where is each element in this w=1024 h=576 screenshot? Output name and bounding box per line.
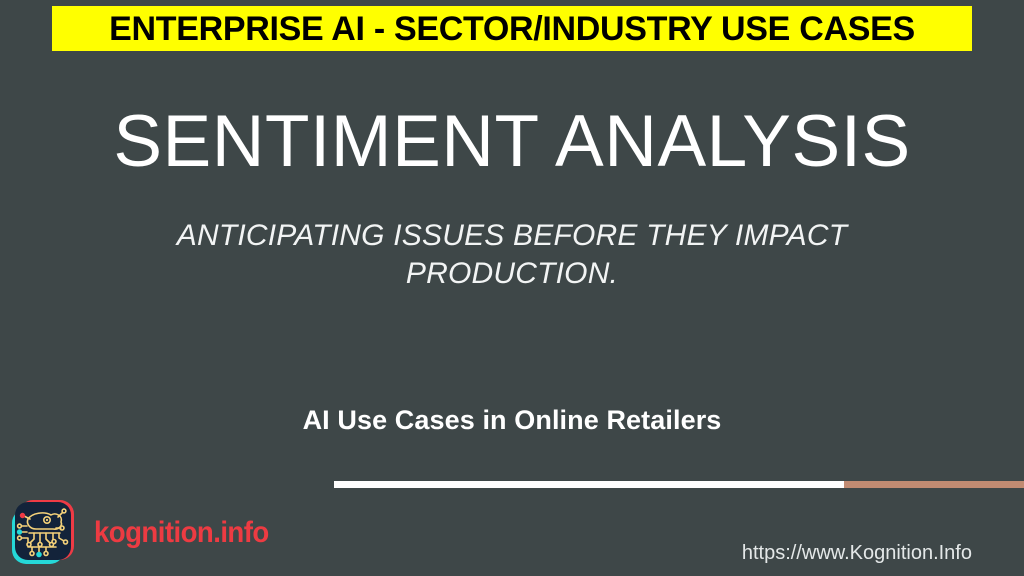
circuit-brain-logo-icon: [6, 495, 82, 571]
brand-logo-lockup: kognition.info: [6, 495, 284, 571]
presentation-slide: ENTERPRISE AI - SECTOR/INDUSTRY USE CASE…: [0, 0, 1024, 576]
header-banner: ENTERPRISE AI - SECTOR/INDUSTRY USE CASE…: [52, 6, 972, 51]
slide-subtitle: ANTICIPATING ISSUES BEFORE THEY IMPACT P…: [128, 217, 896, 293]
divider-accent-segment: [844, 481, 1024, 488]
footer-url: https://www.Kognition.Info: [742, 540, 972, 566]
slide-title: SENTIMENT ANALYSIS: [0, 100, 1024, 184]
section-heading: AI Use Cases in Online Retailers: [0, 403, 1024, 437]
divider: [334, 481, 1024, 488]
header-banner-text: ENTERPRISE AI - SECTOR/INDUSTRY USE CASE…: [109, 12, 915, 46]
brand-wordmark: kognition.info: [94, 518, 269, 548]
divider-primary-segment: [334, 481, 844, 488]
